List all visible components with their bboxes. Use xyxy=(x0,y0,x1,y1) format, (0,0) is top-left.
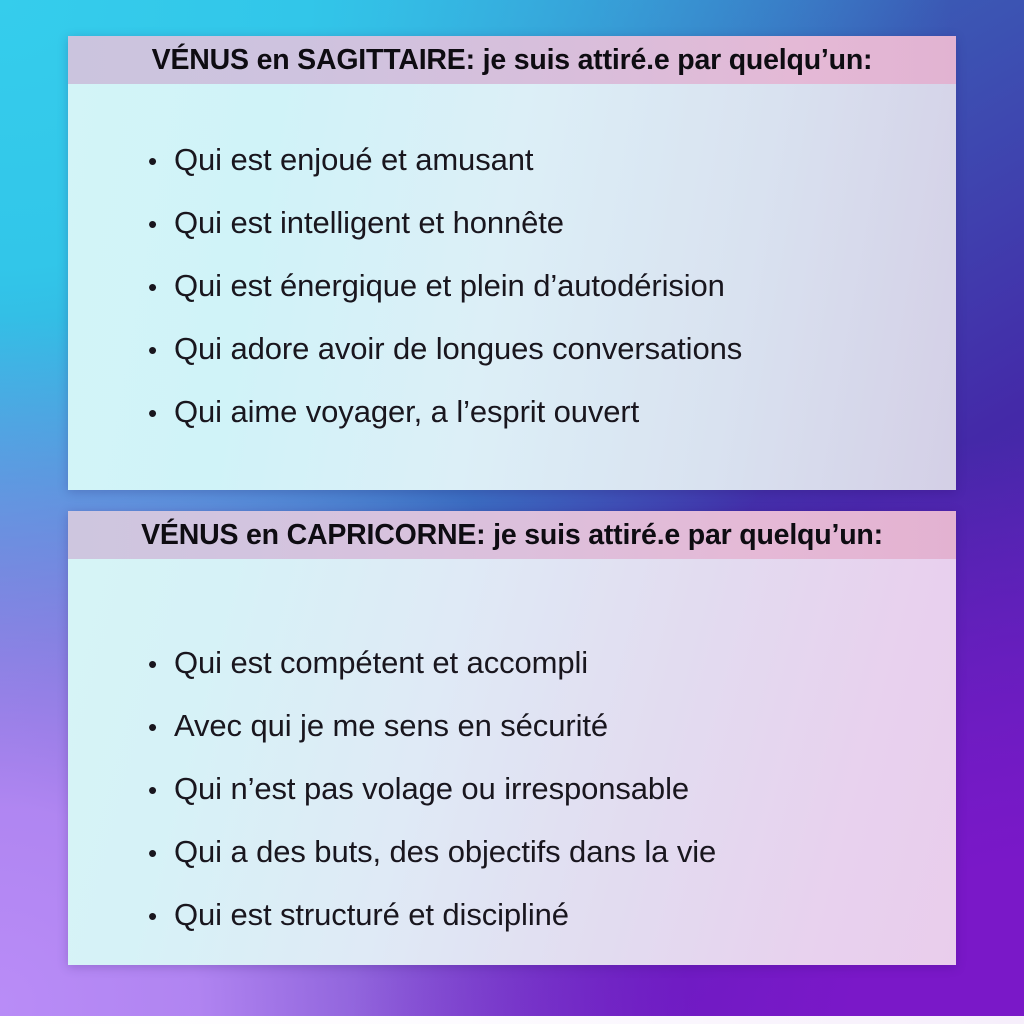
list-item: • Qui est enjoué et amusant xyxy=(68,144,956,207)
bullet-list-capricorne: • Qui est compétent et accompli • Avec q… xyxy=(68,559,956,962)
bullet-dot-icon: • xyxy=(148,274,174,300)
card-header-capricorne: VÉNUS en CAPRICORNE: je suis attiré.e pa… xyxy=(68,511,956,559)
list-item-label: Qui a des buts, des objectifs dans la vi… xyxy=(174,836,716,867)
card-title-capricorne: VÉNUS en CAPRICORNE: je suis attiré.e pa… xyxy=(141,519,883,552)
bullet-dot-icon: • xyxy=(148,777,174,803)
list-item: • Avec qui je me sens en sécurité xyxy=(68,710,956,773)
bullet-dot-icon: • xyxy=(148,211,174,237)
list-item-label: Qui n’est pas volage ou irresponsable xyxy=(174,773,689,804)
bullet-dot-icon: • xyxy=(148,148,174,174)
card-body-sagittaire: • Qui est enjoué et amusant • Qui est in… xyxy=(68,84,956,490)
bullet-dot-icon: • xyxy=(148,337,174,363)
list-item-label: Qui adore avoir de longues conversations xyxy=(174,333,742,364)
list-item-label: Qui aime voyager, a l’esprit ouvert xyxy=(174,396,639,427)
card-header-sagittaire: VÉNUS en SAGITTAIRE: je suis attiré.e pa… xyxy=(68,36,956,84)
bullet-list-sagittaire: • Qui est enjoué et amusant • Qui est in… xyxy=(68,84,956,459)
list-item-label: Avec qui je me sens en sécurité xyxy=(174,710,608,741)
list-item: • Qui est structuré et discipliné xyxy=(68,899,956,962)
card-venus-capricorne: VÉNUS en CAPRICORNE: je suis attiré.e pa… xyxy=(68,511,956,965)
card-body-capricorne: • Qui est compétent et accompli • Avec q… xyxy=(68,559,956,965)
list-item-label: Qui est énergique et plein d’autodérisio… xyxy=(174,270,725,301)
bullet-dot-icon: • xyxy=(148,840,174,866)
bullet-dot-icon: • xyxy=(148,651,174,677)
list-item: • Qui est intelligent et honnête xyxy=(68,207,956,270)
list-item-label: Qui est enjoué et amusant xyxy=(174,144,533,175)
bullet-dot-icon: • xyxy=(148,903,174,929)
list-item: • Qui n’est pas volage ou irresponsable xyxy=(68,773,956,836)
poster-canvas: VÉNUS en SAGITTAIRE: je suis attiré.e pa… xyxy=(0,0,1024,1024)
list-item-label: Qui est intelligent et honnête xyxy=(174,207,564,238)
card-venus-sagittaire: VÉNUS en SAGITTAIRE: je suis attiré.e pa… xyxy=(68,36,956,490)
list-item: • Qui est énergique et plein d’autodéris… xyxy=(68,270,956,333)
bottom-edge-strip xyxy=(0,1016,1024,1024)
list-item: • Qui aime voyager, a l’esprit ouvert xyxy=(68,396,956,459)
list-item: • Qui a des buts, des objectifs dans la … xyxy=(68,836,956,899)
list-item-label: Qui est compétent et accompli xyxy=(174,647,588,678)
list-item: • Qui est compétent et accompli xyxy=(68,647,956,710)
bullet-dot-icon: • xyxy=(148,400,174,426)
bullet-dot-icon: • xyxy=(148,714,174,740)
list-item-label: Qui est structuré et discipliné xyxy=(174,899,569,930)
card-title-sagittaire: VÉNUS en SAGITTAIRE: je suis attiré.e pa… xyxy=(152,44,873,77)
list-item: • Qui adore avoir de longues conversatio… xyxy=(68,333,956,396)
